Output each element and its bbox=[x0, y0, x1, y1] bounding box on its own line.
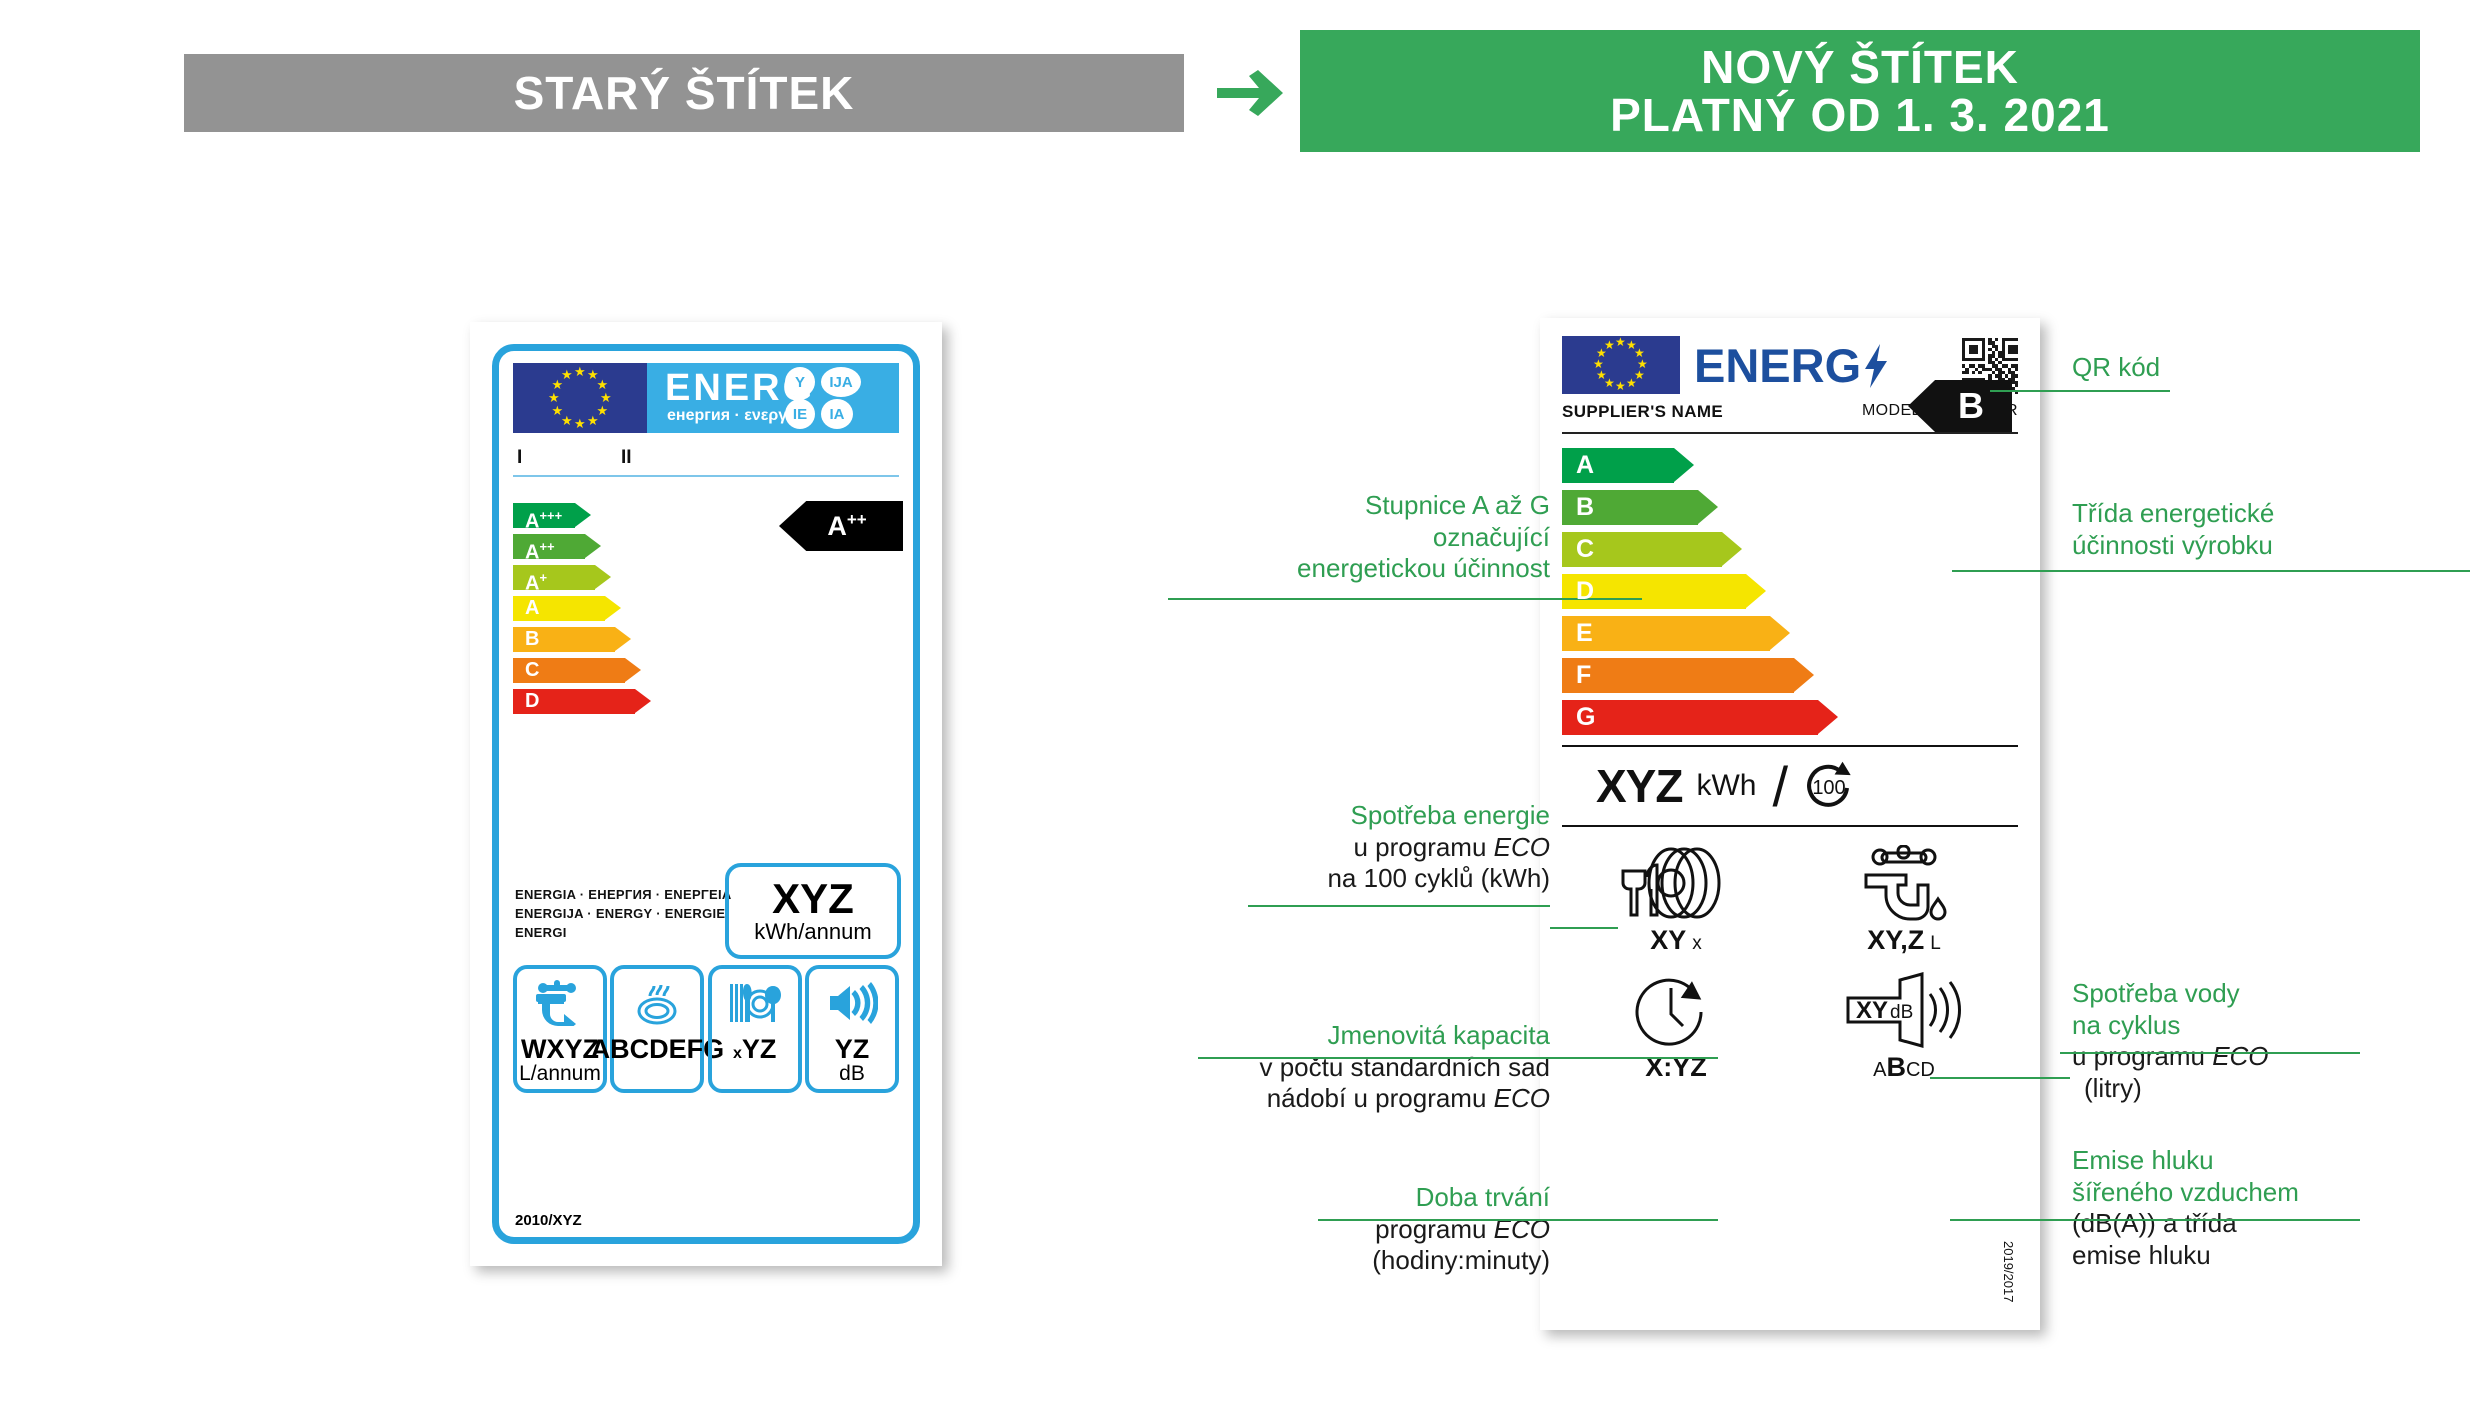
annotation-duration-line1: Doba trvání bbox=[1130, 1182, 1550, 1214]
old-cell-water: WXYZ L/annum bbox=[513, 965, 607, 1093]
svg-text:XY: XY bbox=[1856, 997, 1888, 1024]
new-pictogram-grid: XYx XY,ZL bbox=[1562, 843, 2018, 1083]
new-class-bar-body bbox=[1562, 658, 1794, 693]
annotation-energy-line2: u programu ECO bbox=[1120, 832, 1550, 864]
annotation-duration-underline bbox=[1318, 1219, 1550, 1221]
language-line: ENERGIJA · ENERGY · ENERGIE bbox=[515, 905, 732, 924]
annual-energy-value: XYZ bbox=[772, 878, 854, 920]
annotation-noise-leader bbox=[1950, 1219, 2070, 1221]
annotation-energy: Spotřeba energie u programu ECO na 100 c… bbox=[1120, 800, 1550, 895]
clock-icon bbox=[1581, 970, 1771, 1048]
old-class-bar-label: B bbox=[525, 627, 539, 652]
language-line: ENERGIA · ЕНЕРГИЯ · ΕΝΕΡΓΕΙΑ bbox=[515, 886, 732, 905]
annotation-water: Spotřeba vody na cyklus u programu ECO (… bbox=[2072, 978, 2480, 1105]
old-class-bar-tip bbox=[635, 689, 651, 713]
annotation-capacity-underline bbox=[1198, 1057, 1550, 1059]
pictogram-capacity: XYx bbox=[1581, 843, 1771, 956]
annotation-duration: Doba trvání programu ECO (hodiny:minuty) bbox=[1130, 1182, 1550, 1277]
svg-text:dB: dB bbox=[1890, 1002, 1913, 1023]
banner-new-line2: PLATNÝ OD 1. 3. 2021 bbox=[1610, 91, 2110, 139]
old-pictogram-row: WXYZ L/annum ABCDEFG bbox=[513, 965, 899, 1093]
new-class-bar-tip bbox=[1722, 532, 1742, 566]
speaker-noise-icon: XY dB bbox=[1809, 970, 1999, 1048]
water-value: XY,ZL bbox=[1809, 925, 1999, 956]
old-class-bar: B bbox=[513, 627, 899, 652]
old-noise-value: YZ bbox=[835, 1035, 870, 1063]
lang-circle-1: Y bbox=[785, 367, 815, 397]
new-class-bar: E bbox=[1562, 616, 2018, 651]
annotation-energy-line3: na 100 cyklů (kWh) bbox=[1120, 863, 1550, 895]
annotation-class-leader bbox=[1952, 570, 2070, 572]
new-class-bar-label: B bbox=[1576, 490, 1594, 525]
energy-value: XYZ bbox=[1596, 759, 1682, 813]
eu-flag-icon: ★★★★★★★★★★★★ bbox=[1562, 336, 1680, 394]
svg-text:100: 100 bbox=[1812, 777, 1845, 799]
energ-banner: ENERG енергия · ενεργεια Y IJA IE IA bbox=[647, 363, 899, 433]
annotation-duration-leader bbox=[1550, 1219, 1718, 1221]
banner-new-line1: NOVÝ ŠTÍTEK bbox=[1701, 43, 2019, 91]
water-tap-icon bbox=[534, 975, 586, 1031]
old-class-bar-tip bbox=[595, 565, 611, 589]
new-class-bar-label: F bbox=[1576, 658, 1591, 693]
old-class-bar-label: A+ bbox=[525, 565, 547, 590]
eu-flag-icon: ★★★★★★★★★★★★ bbox=[513, 363, 647, 433]
new-class-bar: C bbox=[1562, 532, 2018, 567]
old-class-bar-tip bbox=[625, 658, 641, 682]
annotation-water-line2: na cyklus bbox=[2072, 1010, 2480, 1042]
old-class-bar: A bbox=[513, 596, 899, 621]
water-tap-icon bbox=[1809, 843, 1999, 921]
new-class-bar: D bbox=[1562, 574, 2018, 609]
annotation-qr-leader bbox=[1990, 390, 2070, 392]
new-class-scale: ABCDEFG bbox=[1562, 448, 2018, 735]
new-class-bar-tip bbox=[1770, 616, 1790, 650]
annotation-class-underline bbox=[2062, 570, 2470, 572]
annotation-scale-line1: Stupnice A až G bbox=[1060, 490, 1550, 522]
annotation-capacity-leader bbox=[1550, 1057, 1718, 1059]
annotation-water-line3: u programu ECO bbox=[2072, 1041, 2480, 1073]
lightning-bolt-icon bbox=[1863, 339, 1889, 392]
old-water-unit: L/annum bbox=[519, 1063, 601, 1085]
annotation-water-underline bbox=[2060, 1052, 2360, 1054]
old-class-bar-tip bbox=[585, 534, 601, 558]
new-class-bar-tip bbox=[1698, 490, 1718, 524]
old-cell-noise: YZ dB bbox=[805, 965, 899, 1093]
pictogram-row-2: X:YZ XY bbox=[1562, 970, 2018, 1083]
new-class-bar: F bbox=[1562, 658, 2018, 693]
old-class-bar-label: A+++ bbox=[525, 503, 562, 528]
annual-energy-unit: kWh/annum bbox=[754, 920, 871, 944]
old-class-bar-tip bbox=[575, 503, 591, 527]
old-label-divider bbox=[513, 475, 899, 477]
annual-energy-box: XYZ kWh/annum bbox=[725, 863, 901, 959]
energ-wordmark: ENERG bbox=[1694, 342, 1889, 389]
annotation-noise-line3: (dB(A)) a třída bbox=[2072, 1208, 2480, 1240]
place-settings-icon bbox=[1581, 843, 1771, 921]
new-class-bar-tip bbox=[1794, 658, 1814, 692]
supplier-name: SUPPLIER'S NAME bbox=[1562, 402, 1723, 422]
slash-separator: / bbox=[1772, 754, 1788, 819]
annotation-scale-line2: označující bbox=[1060, 522, 1550, 554]
old-class-bar-label: A++ bbox=[525, 534, 555, 559]
new-class-bar-tip bbox=[1818, 700, 1838, 734]
pictogram-water: XY,ZL bbox=[1809, 843, 1999, 956]
annotation-duration-line3: (hodiny:minuty) bbox=[1130, 1245, 1550, 1277]
annotation-noise-line2: šířeného vzduchem bbox=[2072, 1177, 2480, 1209]
dishes-cutlery-icon bbox=[727, 975, 783, 1031]
energ-text: ENERG bbox=[1694, 339, 1861, 392]
annotation-scale: Stupnice A až G označující energetickou … bbox=[1060, 490, 1550, 585]
annotation-capacity-line3: nádobí u programu ECO bbox=[1090, 1083, 1550, 1115]
new-class-bar: A bbox=[1562, 448, 2018, 483]
lang-circle-2: IJA bbox=[821, 367, 861, 397]
annotation-class: Třída energetické účinnosti výrobku bbox=[2072, 498, 2480, 561]
annotation-energy-leader bbox=[1550, 927, 1618, 929]
roman-numeral-one: I bbox=[517, 447, 522, 469]
annotation-energy-line1: Spotřeba energie bbox=[1120, 800, 1550, 832]
annotation-noise: Emise hluku šířeného vzduchem (dB(A)) a … bbox=[2072, 1145, 2480, 1272]
annotation-capacity: Jmenovitá kapacita v počtu standardních … bbox=[1090, 1020, 1550, 1115]
pictogram-duration: X:YZ bbox=[1581, 970, 1771, 1083]
annotation-energy-underline bbox=[1248, 905, 1550, 907]
lang-circle-4: IA bbox=[821, 399, 853, 429]
annotation-qr-line1: QR kód bbox=[2072, 352, 2472, 384]
language-circles: Y IJA IE IA bbox=[785, 367, 893, 429]
banner-old-label: STARÝ ŠTÍTEK bbox=[184, 54, 1184, 132]
pictogram-row-1: XYx XY,ZL bbox=[1562, 843, 2018, 956]
old-label-border: ★★★★★★★★★★★★ ENERG енергия · ενεργεια Y … bbox=[492, 344, 920, 1244]
old-cell-drying: ABCDEFG bbox=[610, 965, 704, 1093]
old-energy-label: ★★★★★★★★★★★★ ENERG енергия · ενεργεια Y … bbox=[470, 322, 942, 1266]
annotation-scale-underline bbox=[1168, 598, 1550, 600]
drying-icon bbox=[632, 975, 682, 1031]
annotation-water-line4: (litry) bbox=[2084, 1073, 2480, 1105]
old-settings-value: xYZ bbox=[733, 1035, 776, 1063]
new-class-bar-label: E bbox=[1576, 616, 1593, 651]
annotation-water-line1: Spotřeba vody bbox=[2072, 978, 2480, 1010]
new-label-body: ★★★★★★★★★★★★ ENERG SUPPLIER'S NAME MODEL… bbox=[1562, 334, 2018, 1318]
lang-circle-3: IE bbox=[785, 399, 815, 429]
language-line: ENERGI bbox=[515, 924, 732, 943]
annotation-noise-line1: Emise hluku bbox=[2072, 1145, 2480, 1177]
new-class-bar-label: D bbox=[1576, 574, 1594, 609]
new-class-bar-body bbox=[1562, 616, 1770, 651]
annotation-capacity-line1: Jmenovitá kapacita bbox=[1090, 1020, 1550, 1052]
annotation-noise-underline bbox=[2060, 1219, 2360, 1221]
new-class-bar-tip bbox=[1674, 448, 1694, 482]
pictogram-noise: XY dB ABCD bbox=[1809, 970, 1999, 1083]
old-noise-unit: dB bbox=[839, 1063, 865, 1085]
roman-numeral-two: II bbox=[621, 447, 632, 469]
new-energy-label: ★★★★★★★★★★★★ ENERG SUPPLIER'S NAME MODEL… bbox=[1540, 318, 2040, 1330]
old-water-value: WXYZ bbox=[521, 1035, 599, 1063]
old-class-bar: D bbox=[513, 689, 899, 714]
old-regulation-number: 2010/XYZ bbox=[515, 1212, 582, 1229]
old-class-bar-label: A bbox=[525, 596, 539, 621]
new-class-bar-body bbox=[1562, 700, 1818, 735]
annotation-class-line1: Třída energetické bbox=[2072, 498, 2480, 530]
new-regulation-number: 2019/2017 bbox=[2001, 1241, 2016, 1302]
annotation-qr-underline bbox=[2060, 390, 2170, 392]
old-label-header: ★★★★★★★★★★★★ ENERG енергия · ενεργεια Y … bbox=[513, 363, 899, 433]
annotation-scale-leader bbox=[1550, 598, 1642, 600]
annotation-qr: QR kód bbox=[2072, 352, 2472, 384]
new-class-bar-tip bbox=[1746, 574, 1766, 608]
cycle-arrow-icon: 100 bbox=[1800, 757, 1858, 815]
new-class-bar: B bbox=[1562, 490, 2018, 525]
old-drying-value: ABCDEFG bbox=[591, 1035, 725, 1063]
annotation-class-line2: účinnosti výrobku bbox=[2072, 530, 2480, 562]
old-class-bar-label: C bbox=[525, 658, 539, 683]
old-cell-settings: xYZ bbox=[708, 965, 802, 1093]
new-class-bar-label: C bbox=[1576, 532, 1594, 567]
old-class-bar-tip bbox=[605, 596, 621, 620]
annotation-water-leader bbox=[1930, 1077, 2070, 1079]
annotation-noise-line4: emise hluku bbox=[2072, 1240, 2480, 1272]
new-class-bar-label: A bbox=[1576, 448, 1594, 483]
new-class-bar-label: G bbox=[1576, 700, 1595, 735]
new-rating-value: B bbox=[1958, 385, 1984, 427]
energy-unit: kWh bbox=[1696, 769, 1756, 803]
slide-canvas: STARÝ ŠTÍTEK NOVÝ ŠTÍTEK PLATNÝ OD 1. 3.… bbox=[0, 0, 2480, 1406]
old-class-bar: C bbox=[513, 658, 899, 683]
old-class-bar-label: D bbox=[525, 689, 539, 714]
old-class-bar-tip bbox=[615, 627, 631, 651]
old-rating-value: A++ bbox=[827, 510, 866, 542]
arrow-right-icon bbox=[1215, 70, 1285, 116]
new-class-bar: G bbox=[1562, 700, 2018, 735]
old-class-bar: A+ bbox=[513, 565, 899, 590]
capacity-value: XYx bbox=[1581, 925, 1771, 956]
language-list: ENERGIA · ЕНЕРГИЯ · ΕΝΕΡΓΕΙΑENERGIJA · E… bbox=[515, 886, 732, 943]
banner-new-label: NOVÝ ŠTÍTEK PLATNÝ OD 1. 3. 2021 bbox=[1300, 30, 2420, 152]
speaker-icon bbox=[826, 975, 878, 1031]
energy-consumption-row: XYZ kWh / 100 bbox=[1562, 745, 2018, 827]
annotation-scale-line3: energetickou účinnost bbox=[1060, 553, 1550, 585]
banner-old-text: STARÝ ŠTÍTEK bbox=[514, 66, 855, 120]
